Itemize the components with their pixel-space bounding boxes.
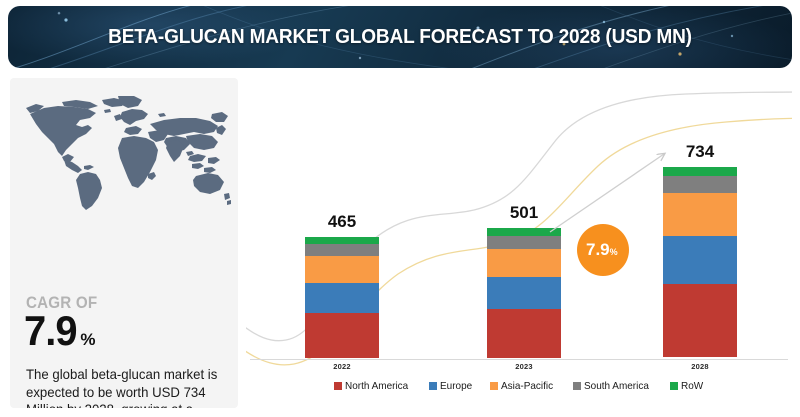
growth-arrow <box>536 138 726 238</box>
x-axis-labels: 202220232028 <box>246 362 792 378</box>
legend-label: RoW <box>681 380 703 392</box>
cagr-value: 7.9 % <box>24 310 96 352</box>
bar-total-label-2023: 501 <box>510 203 538 223</box>
x-axis-line <box>250 359 788 360</box>
summary-description: The global beta-glucan market is expecte… <box>26 366 220 408</box>
world-map-icon <box>18 94 232 212</box>
legend-swatch-icon <box>670 382 678 390</box>
bar-segment-north-america[interactable] <box>305 313 379 358</box>
bar-segment-europe[interactable] <box>487 277 561 309</box>
header-banner: BETA-GLUCAN MARKET GLOBAL FORECAST TO 20… <box>8 6 792 68</box>
page-title: BETA-GLUCAN MARKET GLOBAL FORECAST TO 20… <box>35 25 764 49</box>
plot-area: 465501734 7.9 % <box>246 78 792 360</box>
legend-item-north-america[interactable]: North America <box>334 380 412 392</box>
bar-segment-north-america[interactable] <box>487 309 561 358</box>
legend-swatch-icon <box>429 382 437 390</box>
bar-total-label-2022: 465 <box>328 212 356 232</box>
bar-group-2022[interactable]: 465 <box>305 207 379 359</box>
x-tick-2028: 2028 <box>691 362 709 371</box>
infographic-root: BETA-GLUCAN MARKET GLOBAL FORECAST TO 20… <box>0 0 800 417</box>
world-map <box>18 94 232 212</box>
legend-item-asia-pacific[interactable]: Asia-Pacific <box>490 380 556 392</box>
cagr-number: 7.9 <box>24 310 77 352</box>
bar-segment-asia-pacific[interactable] <box>305 256 379 284</box>
legend-label: Asia-Pacific <box>501 380 553 392</box>
bar-segment-row[interactable] <box>305 237 379 244</box>
legend-swatch-icon <box>573 382 581 390</box>
x-tick-2023: 2023 <box>515 362 533 371</box>
bar-segment-europe[interactable] <box>305 283 379 313</box>
stacked-bar[interactable] <box>487 228 561 359</box>
legend-item-row[interactable]: RoW <box>670 380 704 392</box>
cagr-percent-sign: % <box>80 330 95 350</box>
chart-legend: North AmericaEuropeAsia-PacificSouth Ame… <box>246 380 792 392</box>
legend-swatch-icon <box>334 382 342 390</box>
cagr-bubble-percent: % <box>610 247 618 257</box>
legend-item-europe[interactable]: Europe <box>429 380 474 392</box>
legend-item-south-america[interactable]: South America <box>573 380 652 392</box>
bar-segment-south-america[interactable] <box>305 244 379 256</box>
bar-segment-europe[interactable] <box>663 236 737 284</box>
bar-segment-asia-pacific[interactable] <box>487 249 561 277</box>
left-summary-panel: CAGR OF 7.9 % The global beta-glucan mar… <box>10 78 238 408</box>
legend-swatch-icon <box>490 382 498 390</box>
cagr-bubble-value: 7.9 <box>586 240 610 260</box>
legend-label: North America <box>345 380 408 392</box>
stacked-bar[interactable] <box>305 237 379 359</box>
bar-segment-north-america[interactable] <box>663 284 737 357</box>
cagr-bubble: 7.9 % <box>577 224 629 276</box>
legend-label: Europe <box>440 380 472 392</box>
legend-label: South America <box>584 380 649 392</box>
chart-panel: 465501734 7.9 % 202220232028 North Ameri… <box>246 78 792 408</box>
x-tick-2022: 2022 <box>333 362 351 371</box>
